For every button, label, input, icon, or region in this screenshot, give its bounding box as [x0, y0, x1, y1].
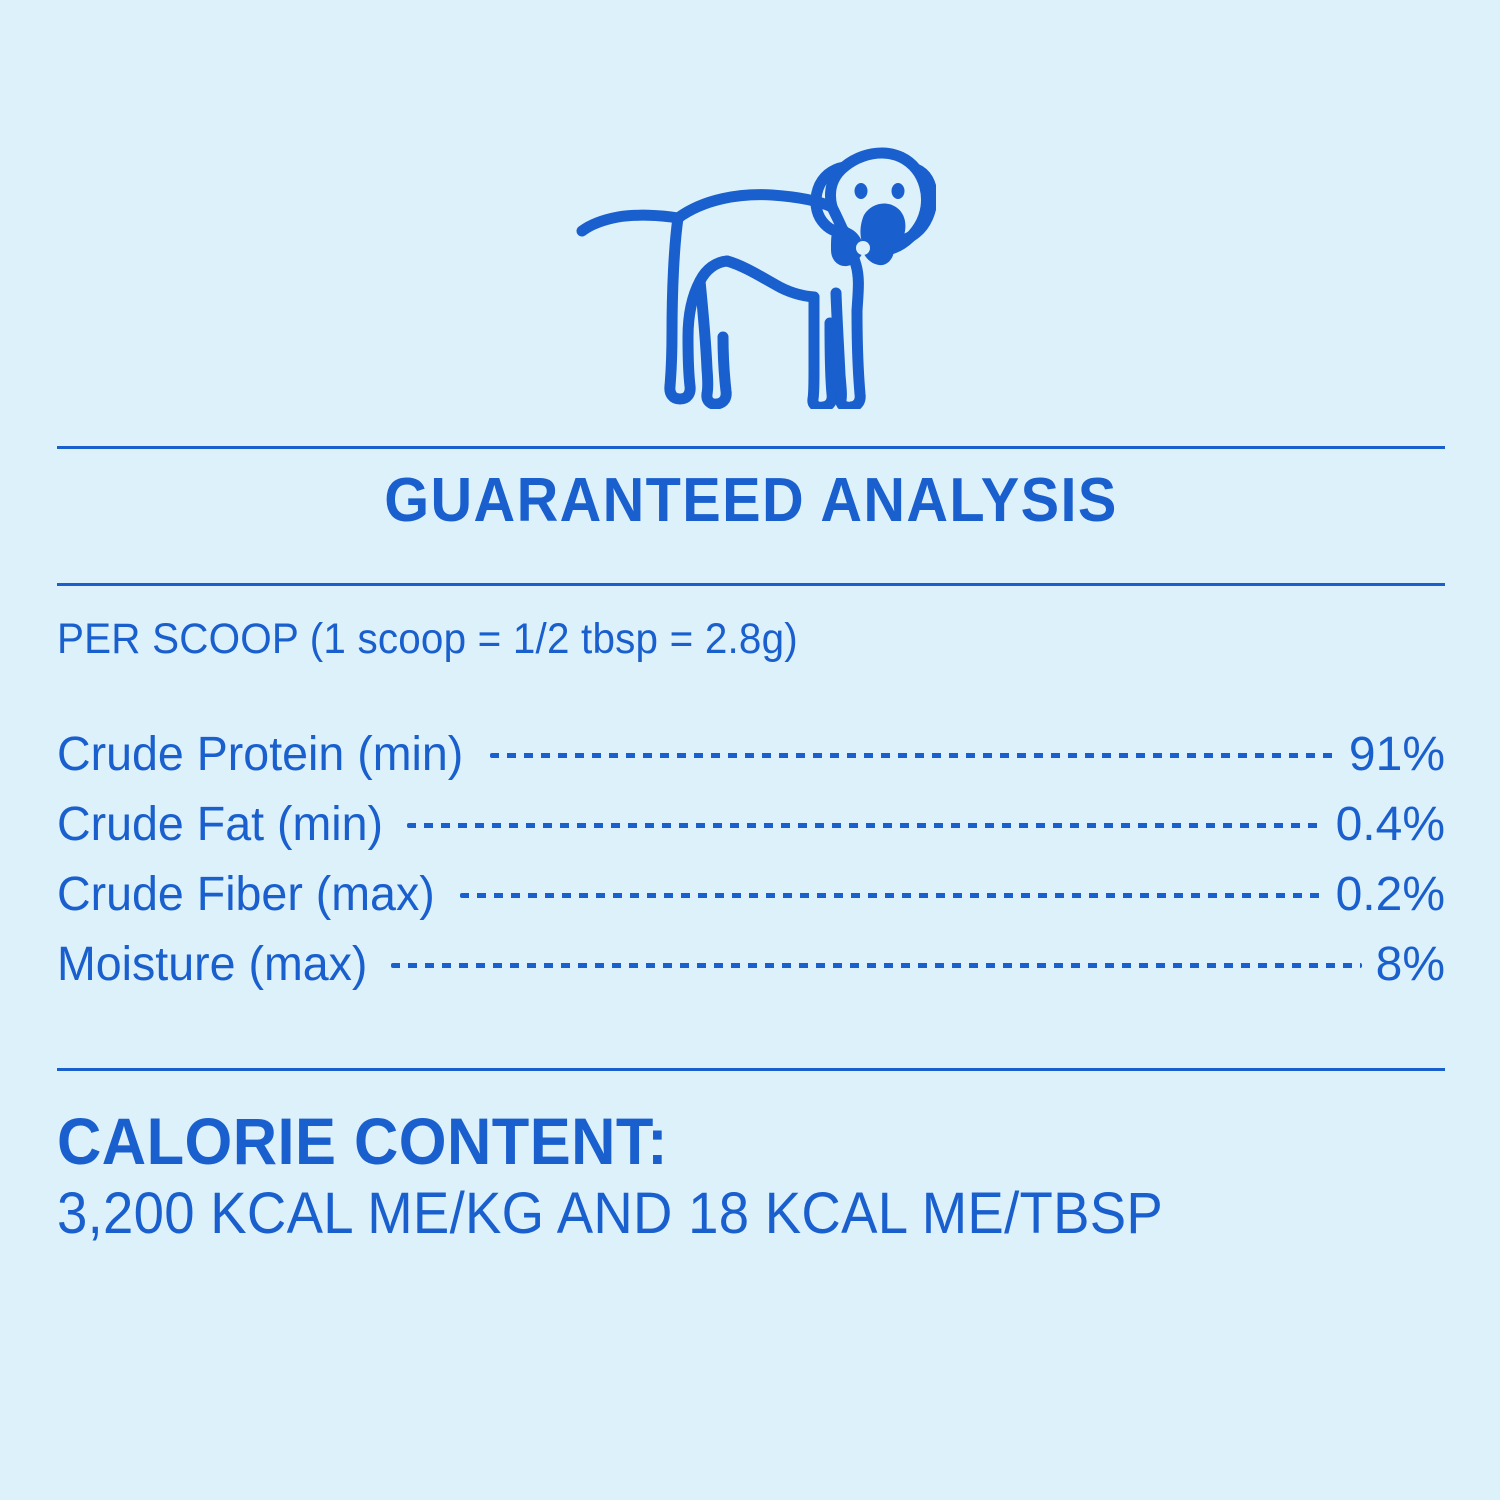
- nutrient-value: 0.4%: [1336, 790, 1445, 860]
- serving-note: PER SCOOP (1 scoop = 1/2 tbsp = 2.8g): [57, 618, 798, 661]
- leader-dots: [391, 910, 1362, 980]
- calorie-content-heading: CALORIE CONTENT:: [57, 1105, 1348, 1179]
- nutrient-table: Crude Protein (min) 91% Crude Fat (min) …: [57, 700, 1445, 980]
- divider-top: [57, 446, 1445, 449]
- nutrient-name: Moisture (max): [57, 930, 367, 1000]
- page-title: GUARANTEED ANALYSIS: [106, 470, 1397, 532]
- leader-dots: [460, 840, 1321, 910]
- nutrient-name: Crude Fiber (max): [57, 860, 435, 930]
- guaranteed-analysis-label: GUARANTEED ANALYSIS PER SCOOP (1 scoop =…: [0, 0, 1500, 1500]
- dog-icon: [564, 141, 936, 409]
- leader-dots: [407, 770, 1322, 840]
- nutrient-value: 91%: [1349, 720, 1445, 790]
- nutrient-name: Crude Fat (min): [57, 790, 383, 860]
- dog-eye-left-icon: [855, 183, 868, 199]
- dog-eye-right-icon: [892, 183, 905, 199]
- nutrient-name: Crude Protein (min): [57, 720, 463, 790]
- bowtie-knot-icon: [856, 241, 870, 255]
- nutrient-value: 8%: [1376, 930, 1445, 1000]
- divider-middle: [57, 583, 1445, 586]
- dog-illustration: [0, 130, 1500, 420]
- table-row: Crude Protein (min) 91%: [57, 700, 1445, 770]
- calorie-content-block: CALORIE CONTENT: 3,200 KCAL ME/KG AND 18…: [57, 1105, 1445, 1250]
- divider-bottom: [57, 1068, 1445, 1071]
- calorie-content-value: 3,200 KCAL ME/KG AND 18 KCAL ME/TBSP: [57, 1179, 1362, 1250]
- leader-dots: [490, 700, 1335, 770]
